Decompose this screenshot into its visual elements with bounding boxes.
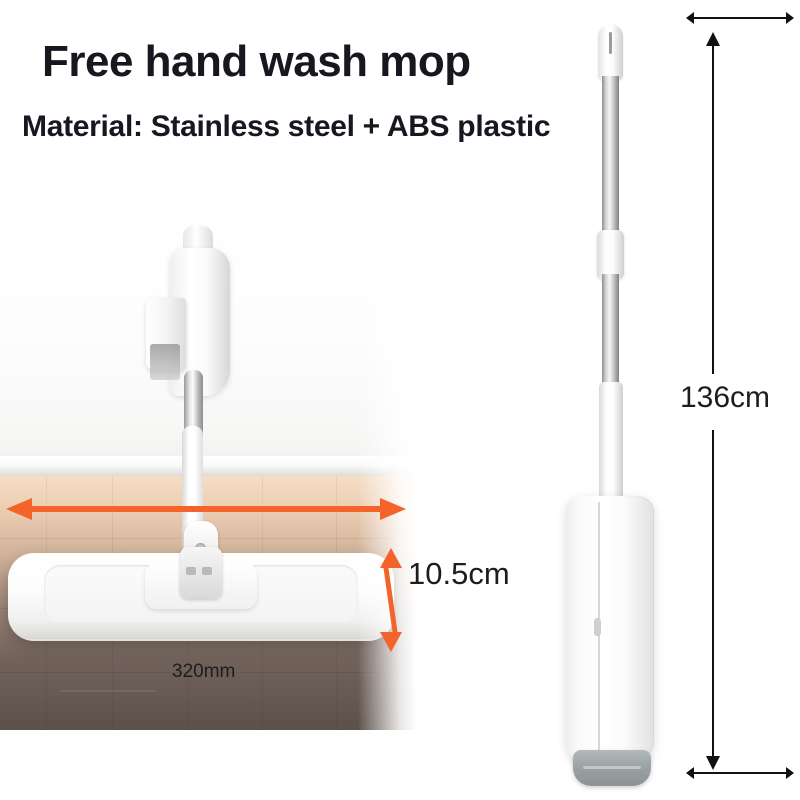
pad-highlight [583,766,641,769]
arrow-shaft [383,562,399,638]
arrowhead-left-icon [6,498,32,520]
tick-arrowhead-right-icon [786,12,794,24]
height-dimension-line-upper [712,44,714,374]
release-button [594,618,601,636]
height-dimension-label: 136cm [676,379,774,417]
cap-slot [609,32,612,54]
telescopic-collar [597,230,624,280]
mop-head-assembly [8,545,394,655]
thickness-arrow [379,548,403,652]
usage-scene-photo [0,170,416,730]
mop-connector [180,547,222,599]
height-arrowhead-bottom-icon [706,756,720,770]
thickness-dimension-label: 10.5cm [408,556,510,592]
product-full-view [545,24,675,776]
page-title: Free hand wash mop [42,40,471,84]
height-dimension-line-lower [712,430,714,756]
dimension-tick-bottom [692,772,788,774]
arrowhead-down-icon [380,632,402,652]
tick-arrowhead-left-icon [686,12,694,24]
material-subtitle: Material: Stainless steel + ABS plastic [22,112,550,142]
dimension-tick-top [692,17,788,19]
arrowhead-right-icon [380,498,406,520]
width-dimension-label: 320mm [166,661,241,683]
steel-pole-bottom [602,274,619,392]
mop-head-front-face [601,498,653,764]
tick-arrowhead-right-bottom-icon [786,767,794,779]
steel-pole-top [602,76,619,240]
width-arrow [6,498,406,520]
tick-arrowhead-left-bottom-icon [686,767,694,779]
white-shaft [599,382,623,508]
lever-slot [150,344,180,380]
product-infographic: Free hand wash mop Material: Stainless s… [0,0,800,800]
arrow-shaft [30,506,382,512]
